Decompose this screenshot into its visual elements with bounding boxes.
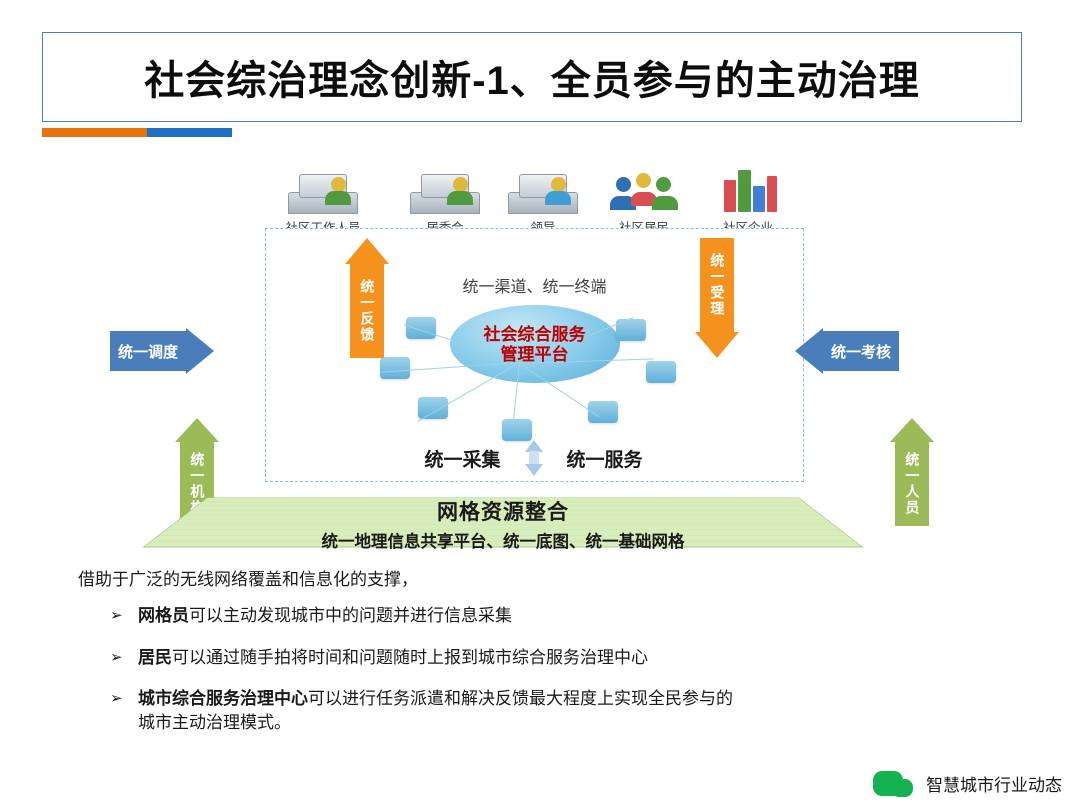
network-node [646,361,676,383]
arrow-unified-assessment: 统一考核 [795,328,899,374]
label-unified-service: 统一服务 [567,445,643,472]
page-title: 社会综治理念创新-1、全员参与的主动治理 [144,48,920,106]
bidirectional-arrow-icon [523,440,545,476]
bullet-keyword: 网格员 [138,606,189,625]
arrow-unified-acceptance: 统一受理 [695,238,739,358]
slide-root: 社会综治理念创新-1、全员参与的主动治理 社区工作人员 居委会 [0,0,1080,810]
platform-label-line2: 管理平台 [484,345,586,365]
body-text-block: 借助于广泛的无线网络覆盖和信息化的支撑， ➢ 网格员可以主动发现城市中的问题并进… [78,565,998,733]
network-link [417,362,520,422]
platform-label-line1: 社会综合服务 [484,325,586,345]
footer-watermark: 智慧城市行业动态 [873,771,1062,796]
persona-committee: 居委会 [397,168,493,236]
slab-subtitle: 统一地理信息共享平台、统一底图、统一基础网格 [178,528,828,552]
mid-label-row: 统一采集 统一服务 [265,440,802,476]
center-caption: 统一渠道、统一终端 [462,273,606,297]
bullet-list: ➢ 网格员可以主动发现城市中的问题并进行信息采集 ➢ 居民可以通过随手拍将时间和… [78,604,998,712]
underline-orange-segment [42,128,147,137]
residents-icon [596,168,692,214]
underline-blue-segment [147,128,232,137]
enterprise-building-icon [700,168,796,214]
bullet-text: 可以进行任务派遣和解决反馈最大程度上实现全民参与的 [308,689,733,708]
title-box: 社会综治理念创新-1、全员参与的主动治理 [42,32,1022,122]
arrow-unified-feedback-label: 统一反馈 [350,264,384,358]
persona-leader: 领导 [495,168,591,236]
bullet-text: 可以主动发现城市中的问题并进行信息采集 [189,606,512,625]
lead-paragraph: 借助于广泛的无线网络覆盖和信息化的支撑， [78,565,998,590]
grid-resource-slab: 网格资源整合 统一地理信息共享平台、统一底图、统一基础网格 [178,480,828,560]
network-node [502,419,532,441]
bullet-keyword: 居民 [138,648,172,667]
wechat-icon [873,771,903,796]
arrow-label-text: 统一反馈 [360,279,375,343]
arrow-unified-dispatch: 统一调度 [110,328,214,374]
arrow-unified-personnel-label: 统一人员 [895,442,929,526]
label-unified-collection: 统一采集 [424,445,500,472]
list-item: ➢ 城市综合服务治理中心可以进行任务派遣和解决反馈最大程度上实现全民参与的 [78,687,998,712]
persona-residents: 社区居民 [596,168,692,236]
title-underline [42,128,232,137]
platform-globe-graphic: 社会综合服务 管理平台 [370,301,700,451]
chevron-right-icon: ➢ [110,688,123,710]
network-node [380,357,410,379]
persona-enterprise: 社区企业 [700,168,796,236]
chevron-right-icon: ➢ [110,647,123,669]
bullet-keyword: 城市综合服务治理中心 [138,689,308,708]
bullet-text: 可以通过随手拍将时间和问题随时上报到城市综合服务治理中心 [172,648,648,667]
arrow-unified-dispatch-label: 统一调度 [110,331,186,371]
arrow-unified-acceptance-label: 统一受理 [700,238,734,332]
arrow-unified-assessment-label: 统一考核 [823,331,899,371]
network-node [418,397,448,419]
leader-desk-icon [495,168,591,214]
arrow-label-text: 统一考核 [831,341,891,362]
arrow-label-text: 统一受理 [710,253,725,317]
arrow-label-text: 统一调度 [118,341,178,362]
list-item: ➢ 居民可以通过随手拍将时间和问题随时上报到城市综合服务治理中心 [78,646,998,671]
footer-text: 智慧城市行业动态 [912,771,1062,796]
arrow-unified-personnel: 统一人员 [890,418,934,526]
list-item: ➢ 网格员可以主动发现城市中的问题并进行信息采集 [78,604,998,629]
persona-community-worker: 社区工作人员 [275,168,371,236]
diagram-area: 社区工作人员 居委会 领导 [90,150,990,570]
chevron-right-icon: ➢ [110,605,123,627]
network-node [406,317,436,339]
arrow-label-text: 统一人员 [905,452,920,516]
platform-label: 社会综合服务 管理平台 [484,325,586,364]
slab-title: 网格资源整合 [178,496,828,526]
committee-desk-icon [397,168,493,214]
worker-desk-icon [275,168,371,214]
arrow-unified-feedback: 统一反馈 [345,238,389,358]
